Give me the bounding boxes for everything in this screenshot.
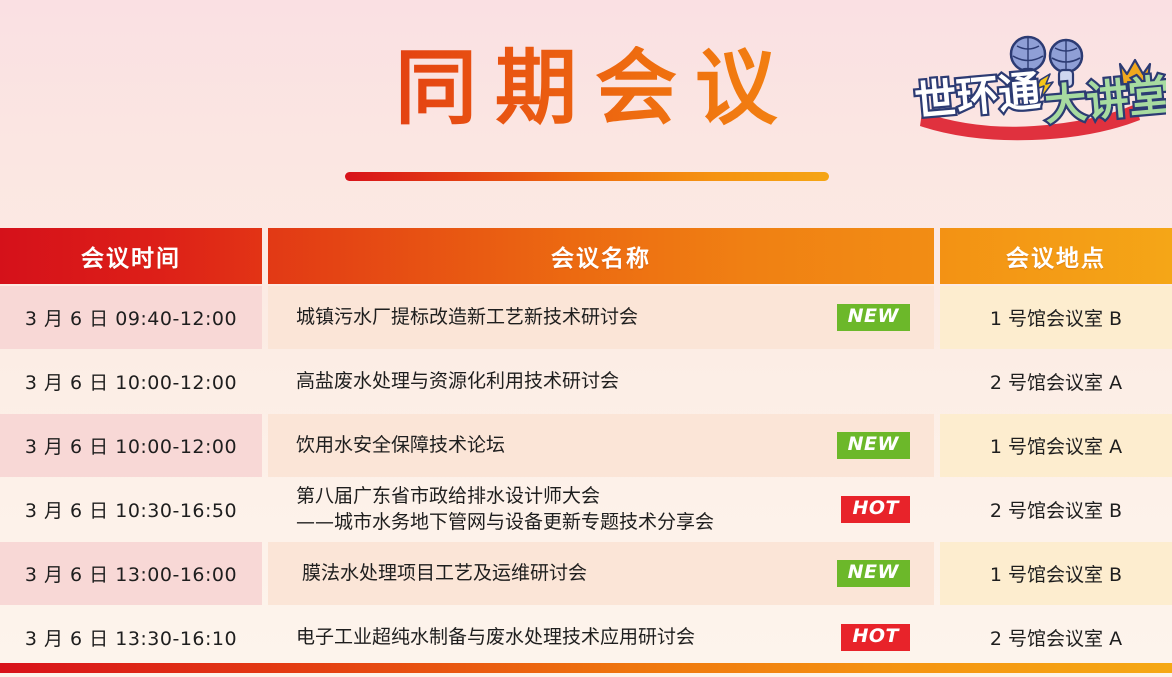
cell-place: 1 号馆会议室 B xyxy=(940,542,1172,605)
status-badge-hot: HOT xyxy=(841,624,910,651)
bottom-accent-bar xyxy=(0,663,1172,673)
cell-place: 1 号馆会议室 B xyxy=(940,286,1172,349)
brand-logo: 世环通 大讲堂 xyxy=(904,34,1166,142)
logo-text-secondary: 大讲堂 xyxy=(1043,70,1166,130)
conference-name: 膜法水处理项目工艺及运维研讨会 xyxy=(296,561,587,586)
conference-schedule-table: 会议时间 会议名称 会议地点 3 月 6 日 09:40-12:00 城镇污水厂… xyxy=(0,228,1172,670)
conference-name: 电子工业超纯水制备与废水处理技术应用研讨会 xyxy=(296,625,695,650)
conference-name: 饮用水安全保障技术论坛 xyxy=(296,433,505,458)
status-badge-new: NEW xyxy=(837,432,910,459)
table-row[interactable]: 3 月 6 日 10:00-12:00 高盐废水处理与资源化利用技术研讨会 2 … xyxy=(0,350,1172,413)
table-row[interactable]: 3 月 6 日 10:30-16:50 第八届广东省市政给排水设计师大会 ——城… xyxy=(0,478,1172,541)
cell-time: 3 月 6 日 13:00-16:00 xyxy=(0,542,262,605)
cell-place: 2 号馆会议室 A xyxy=(940,350,1172,413)
cell-time: 3 月 6 日 10:30-16:50 xyxy=(0,478,262,541)
cell-time: 3 月 6 日 10:00-12:00 xyxy=(0,350,262,413)
cell-place: 1 号馆会议室 A xyxy=(940,414,1172,477)
conference-name-line2: ——城市水务地下管网与设备更新专题技术分享会 xyxy=(296,510,714,535)
cell-name: 膜法水处理项目工艺及运维研讨会 NEW xyxy=(268,542,934,605)
hero-section: 同期会议 xyxy=(0,0,1172,228)
status-badge-new: NEW xyxy=(837,560,910,587)
table-row[interactable]: 3 月 6 日 13:00-16:00 膜法水处理项目工艺及运维研讨会 NEW … xyxy=(0,542,1172,605)
logo-text-primary: 世环通 xyxy=(913,66,1043,126)
cell-name: 城镇污水厂提标改造新工艺新技术研讨会 NEW xyxy=(268,286,934,349)
table-row[interactable]: 3 月 6 日 09:40-12:00 城镇污水厂提标改造新工艺新技术研讨会 N… xyxy=(0,286,1172,349)
cell-name: 饮用水安全保障技术论坛 NEW xyxy=(268,414,934,477)
conference-name: 城镇污水厂提标改造新工艺新技术研讨会 xyxy=(296,305,638,330)
table-row[interactable]: 3 月 6 日 10:00-12:00 饮用水安全保障技术论坛 NEW 1 号馆… xyxy=(0,414,1172,477)
title-divider xyxy=(345,172,829,181)
cell-place: 2 号馆会议室 B xyxy=(940,478,1172,541)
cell-time: 3 月 6 日 13:30-16:10 xyxy=(0,606,262,669)
cell-place: 2 号馆会议室 A xyxy=(940,606,1172,669)
cell-time: 3 月 6 日 10:00-12:00 xyxy=(0,414,262,477)
cell-name: 电子工业超纯水制备与废水处理技术应用研讨会 HOT xyxy=(268,606,934,669)
conference-name: 高盐废水处理与资源化利用技术研讨会 xyxy=(296,369,619,394)
status-badge-new: NEW xyxy=(837,304,910,331)
column-header-place: 会议地点 xyxy=(940,228,1172,284)
status-badge-hot: HOT xyxy=(841,496,910,523)
conference-name: 第八届广东省市政给排水设计师大会 ——城市水务地下管网与设备更新专题技术分享会 xyxy=(296,484,714,534)
conference-name-line1: 第八届广东省市政给排水设计师大会 xyxy=(296,485,600,507)
cell-time: 3 月 6 日 09:40-12:00 xyxy=(0,286,262,349)
table-row[interactable]: 3 月 6 日 13:30-16:10 电子工业超纯水制备与废水处理技术应用研讨… xyxy=(0,606,1172,669)
column-header-name: 会议名称 xyxy=(268,228,934,284)
column-header-time: 会议时间 xyxy=(0,228,262,284)
cell-name: 高盐废水处理与资源化利用技术研讨会 xyxy=(268,350,934,413)
table-header-row: 会议时间 会议名称 会议地点 xyxy=(0,228,1172,284)
cell-name: 第八届广东省市政给排水设计师大会 ——城市水务地下管网与设备更新专题技术分享会 … xyxy=(268,478,934,541)
